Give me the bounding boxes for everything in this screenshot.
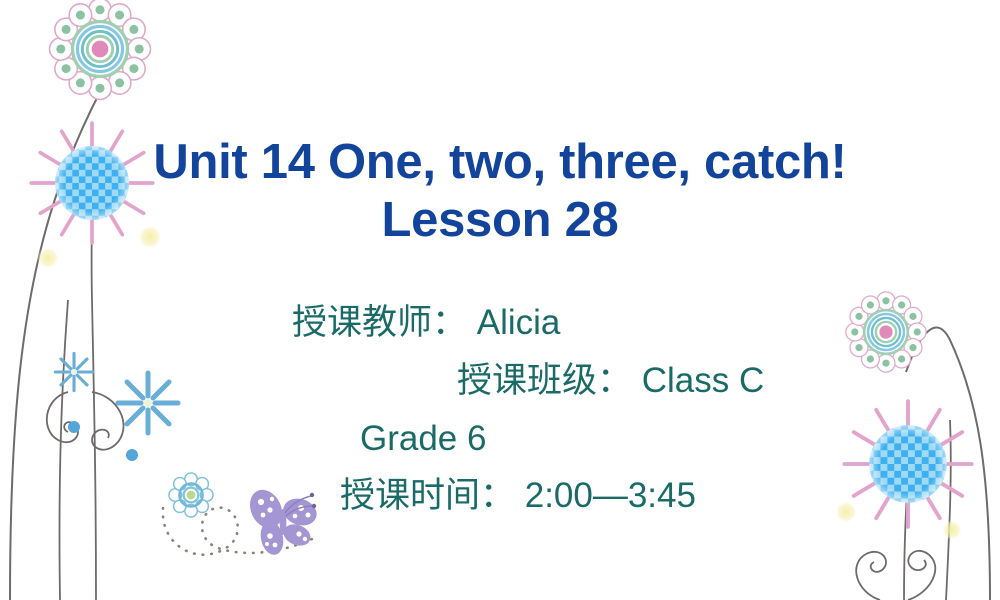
slide-title: Unit 14 One, two, three, catch! Lesson 2…: [0, 134, 1000, 250]
title-line-1: Unit 14 One, two, three, catch!: [0, 134, 1000, 192]
detail-grade: Grade 6: [0, 421, 1000, 456]
title-line-2: Lesson 28: [0, 192, 1000, 250]
slide-details: 授课教师： Alicia 授课班级： Class C Grade 6 授课时间：…: [0, 305, 1000, 513]
text-layer: Unit 14 One, two, three, catch! Lesson 2…: [0, 0, 1000, 600]
detail-class: 授课班级： Class C: [0, 363, 1000, 398]
detail-teacher: 授课教师： Alicia: [0, 305, 1000, 340]
detail-time: 授课时间： 2:00—3:45: [0, 478, 1000, 513]
slide-canvas: Unit 14 One, two, three, catch! Lesson 2…: [0, 0, 1000, 600]
